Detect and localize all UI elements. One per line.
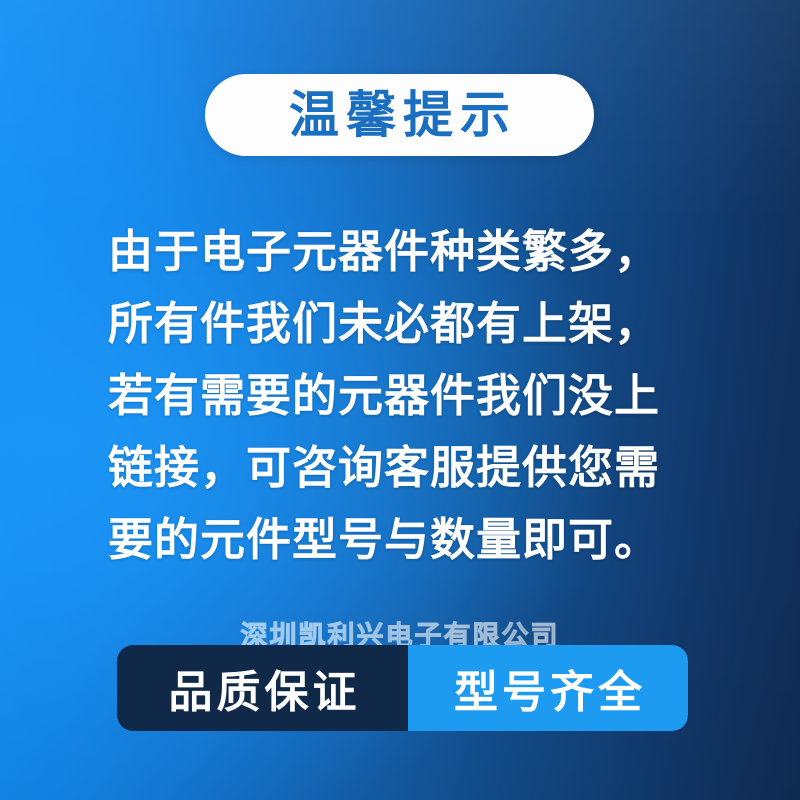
notice-line: 由于电子元器件种类繁多， xyxy=(108,216,708,288)
notice-line: 若有需要的元器件我们没上 xyxy=(108,360,708,432)
promo-poster: 温馨提示 由于电子元器件种类繁多， 所有件我们未必都有上架， 若有需要的元器件我… xyxy=(0,0,800,800)
notice-line: 链接，可咨询客服提供您需 xyxy=(108,432,708,504)
badge-quality-guarantee: 品质保证 xyxy=(117,645,408,731)
notice-line: 要的元件型号与数量即可。 xyxy=(108,504,708,576)
badge-full-model-range: 型号齐全 xyxy=(408,645,688,731)
title-badge-label: 温馨提示 xyxy=(282,90,517,140)
notice-line: 所有件我们未必都有上架， xyxy=(108,288,708,360)
notice-paragraph: 由于电子元器件种类繁多， 所有件我们未必都有上架， 若有需要的元器件我们没上 链… xyxy=(108,216,708,576)
feature-badge-bar: 品质保证 型号齐全 xyxy=(117,645,688,731)
title-badge: 温馨提示 xyxy=(205,74,594,156)
